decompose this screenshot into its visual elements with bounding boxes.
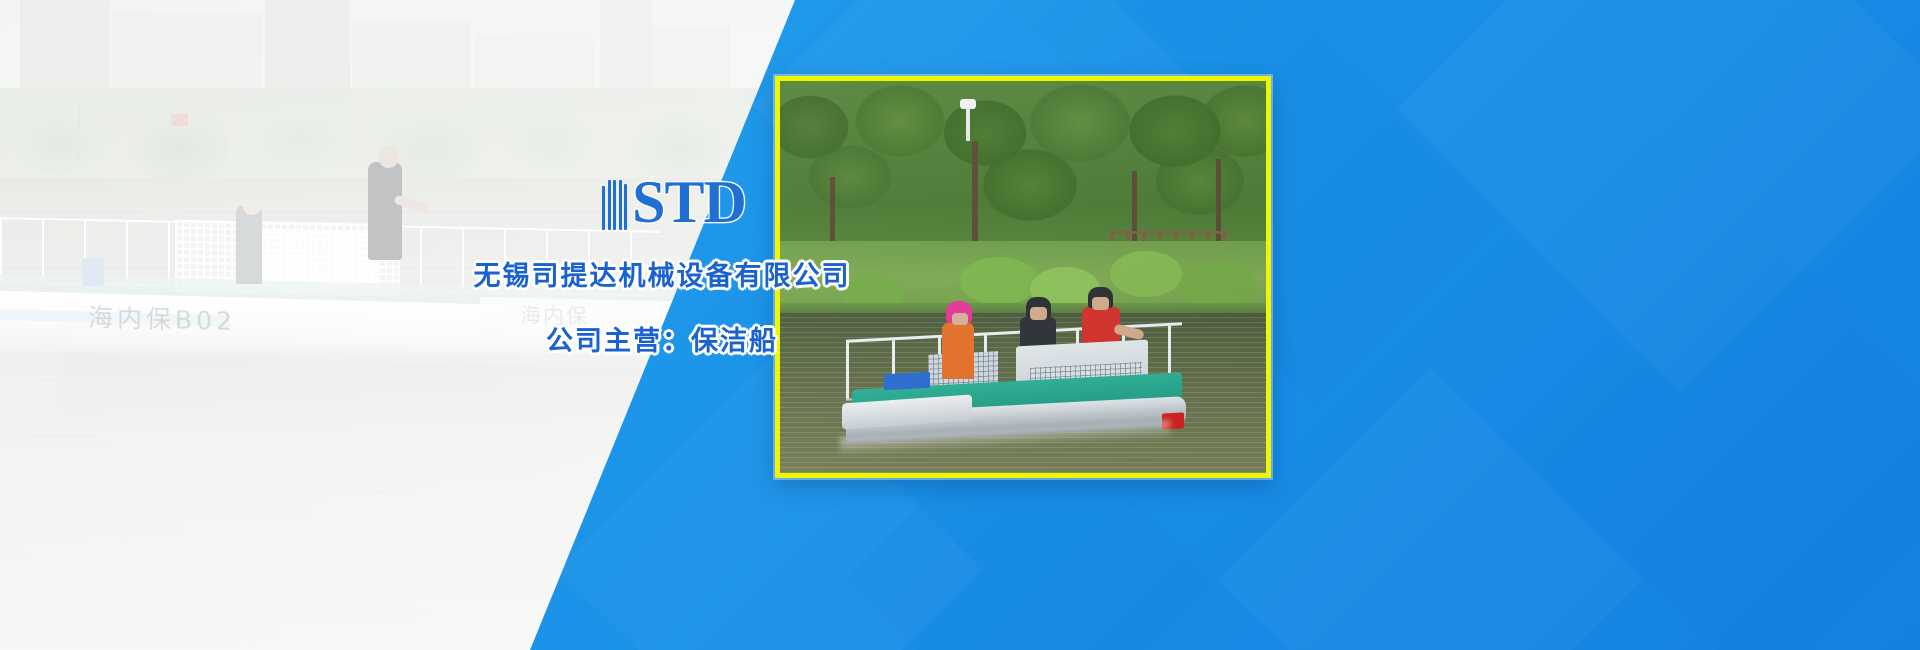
worker-body — [942, 323, 974, 379]
brand-text-block: STD 无锡司提达机械设备有限公司 公司主营：保洁船 — [432, 168, 892, 358]
logo-row: STD — [432, 168, 892, 230]
company-business-line: 公司主营：保洁船 — [432, 319, 892, 358]
boat-blue-box — [884, 372, 930, 390]
company-name: 无锡司提达机械设备有限公司 — [432, 254, 892, 293]
photo-lamp-post — [966, 105, 970, 141]
photo-shrub — [1110, 251, 1182, 297]
worker-face — [1092, 297, 1109, 310]
worker-face — [952, 313, 968, 325]
logo-wordmark: STD — [632, 175, 746, 230]
photo-lamp-head — [960, 99, 976, 109]
hero-banner: 海内保B02 海内保 STD 无锡司提达机械设备有限公司 公司主营：保洁船 — [0, 0, 1920, 650]
photo-shrub — [960, 257, 1038, 305]
logo-bars-icon — [602, 180, 627, 230]
worker-face — [1030, 307, 1047, 320]
photo-shrub — [1180, 261, 1256, 309]
